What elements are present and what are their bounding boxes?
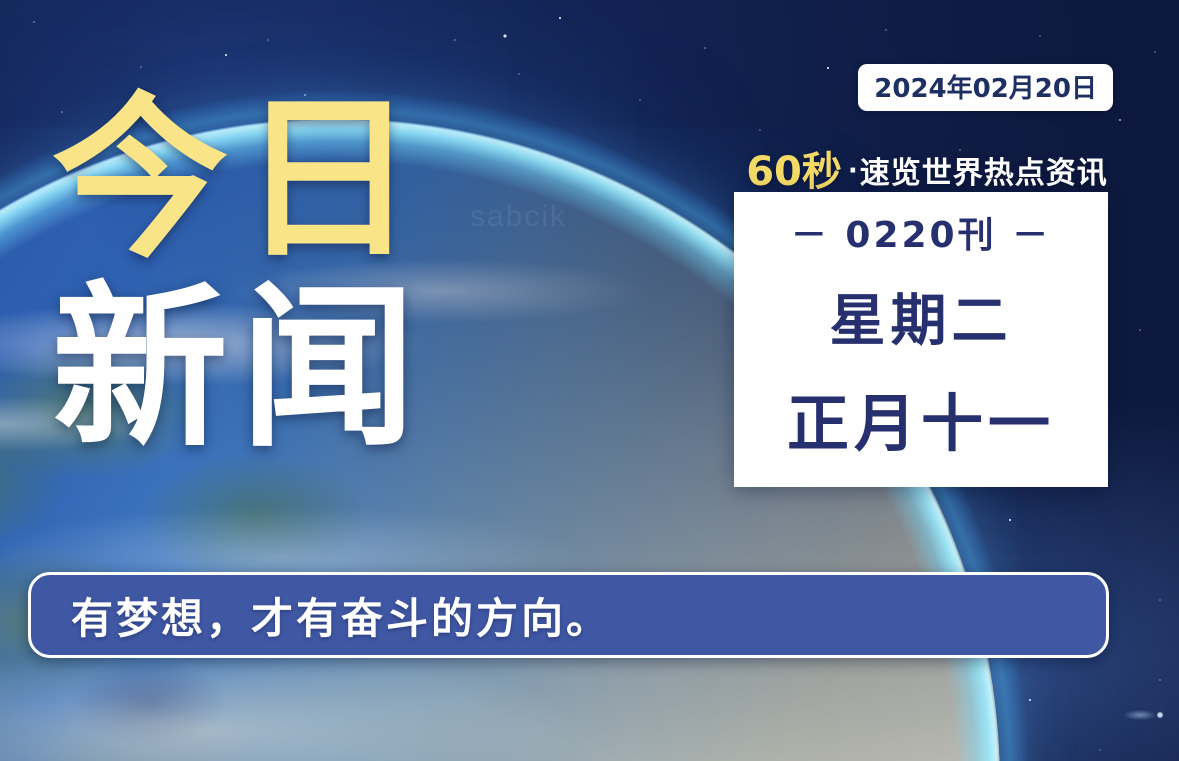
issue-number: － 0220刊 －	[791, 206, 1051, 258]
title-line-today: 今日	[52, 96, 428, 265]
quote-banner: 有梦想，才有奋斗的方向。	[28, 572, 1109, 658]
page-title: 今日 新闻	[52, 96, 428, 454]
info-card: － 0220刊 － 星期二 正月十一	[734, 192, 1108, 487]
tagline: 60秒·速览世界热点资讯	[744, 139, 1110, 197]
tagline-description: 速览世界热点资讯	[860, 156, 1108, 191]
news-poster: sabcik 2024年02月20日 今日 新闻 60秒·速览世界热点资讯 － …	[0, 0, 1179, 761]
weekday-label: 星期二	[830, 276, 1013, 357]
tagline-separator-dot: ·	[848, 156, 858, 186]
date-badge: 2024年02月20日	[858, 64, 1113, 111]
lunar-date-label: 正月十一	[787, 373, 1055, 463]
quote-text: 有梦想，才有奋斗的方向。	[31, 585, 611, 646]
tagline-seconds: 60秒	[746, 149, 842, 195]
watermark-text: sabcik	[470, 200, 567, 234]
title-line-news: 新闻	[52, 285, 428, 454]
